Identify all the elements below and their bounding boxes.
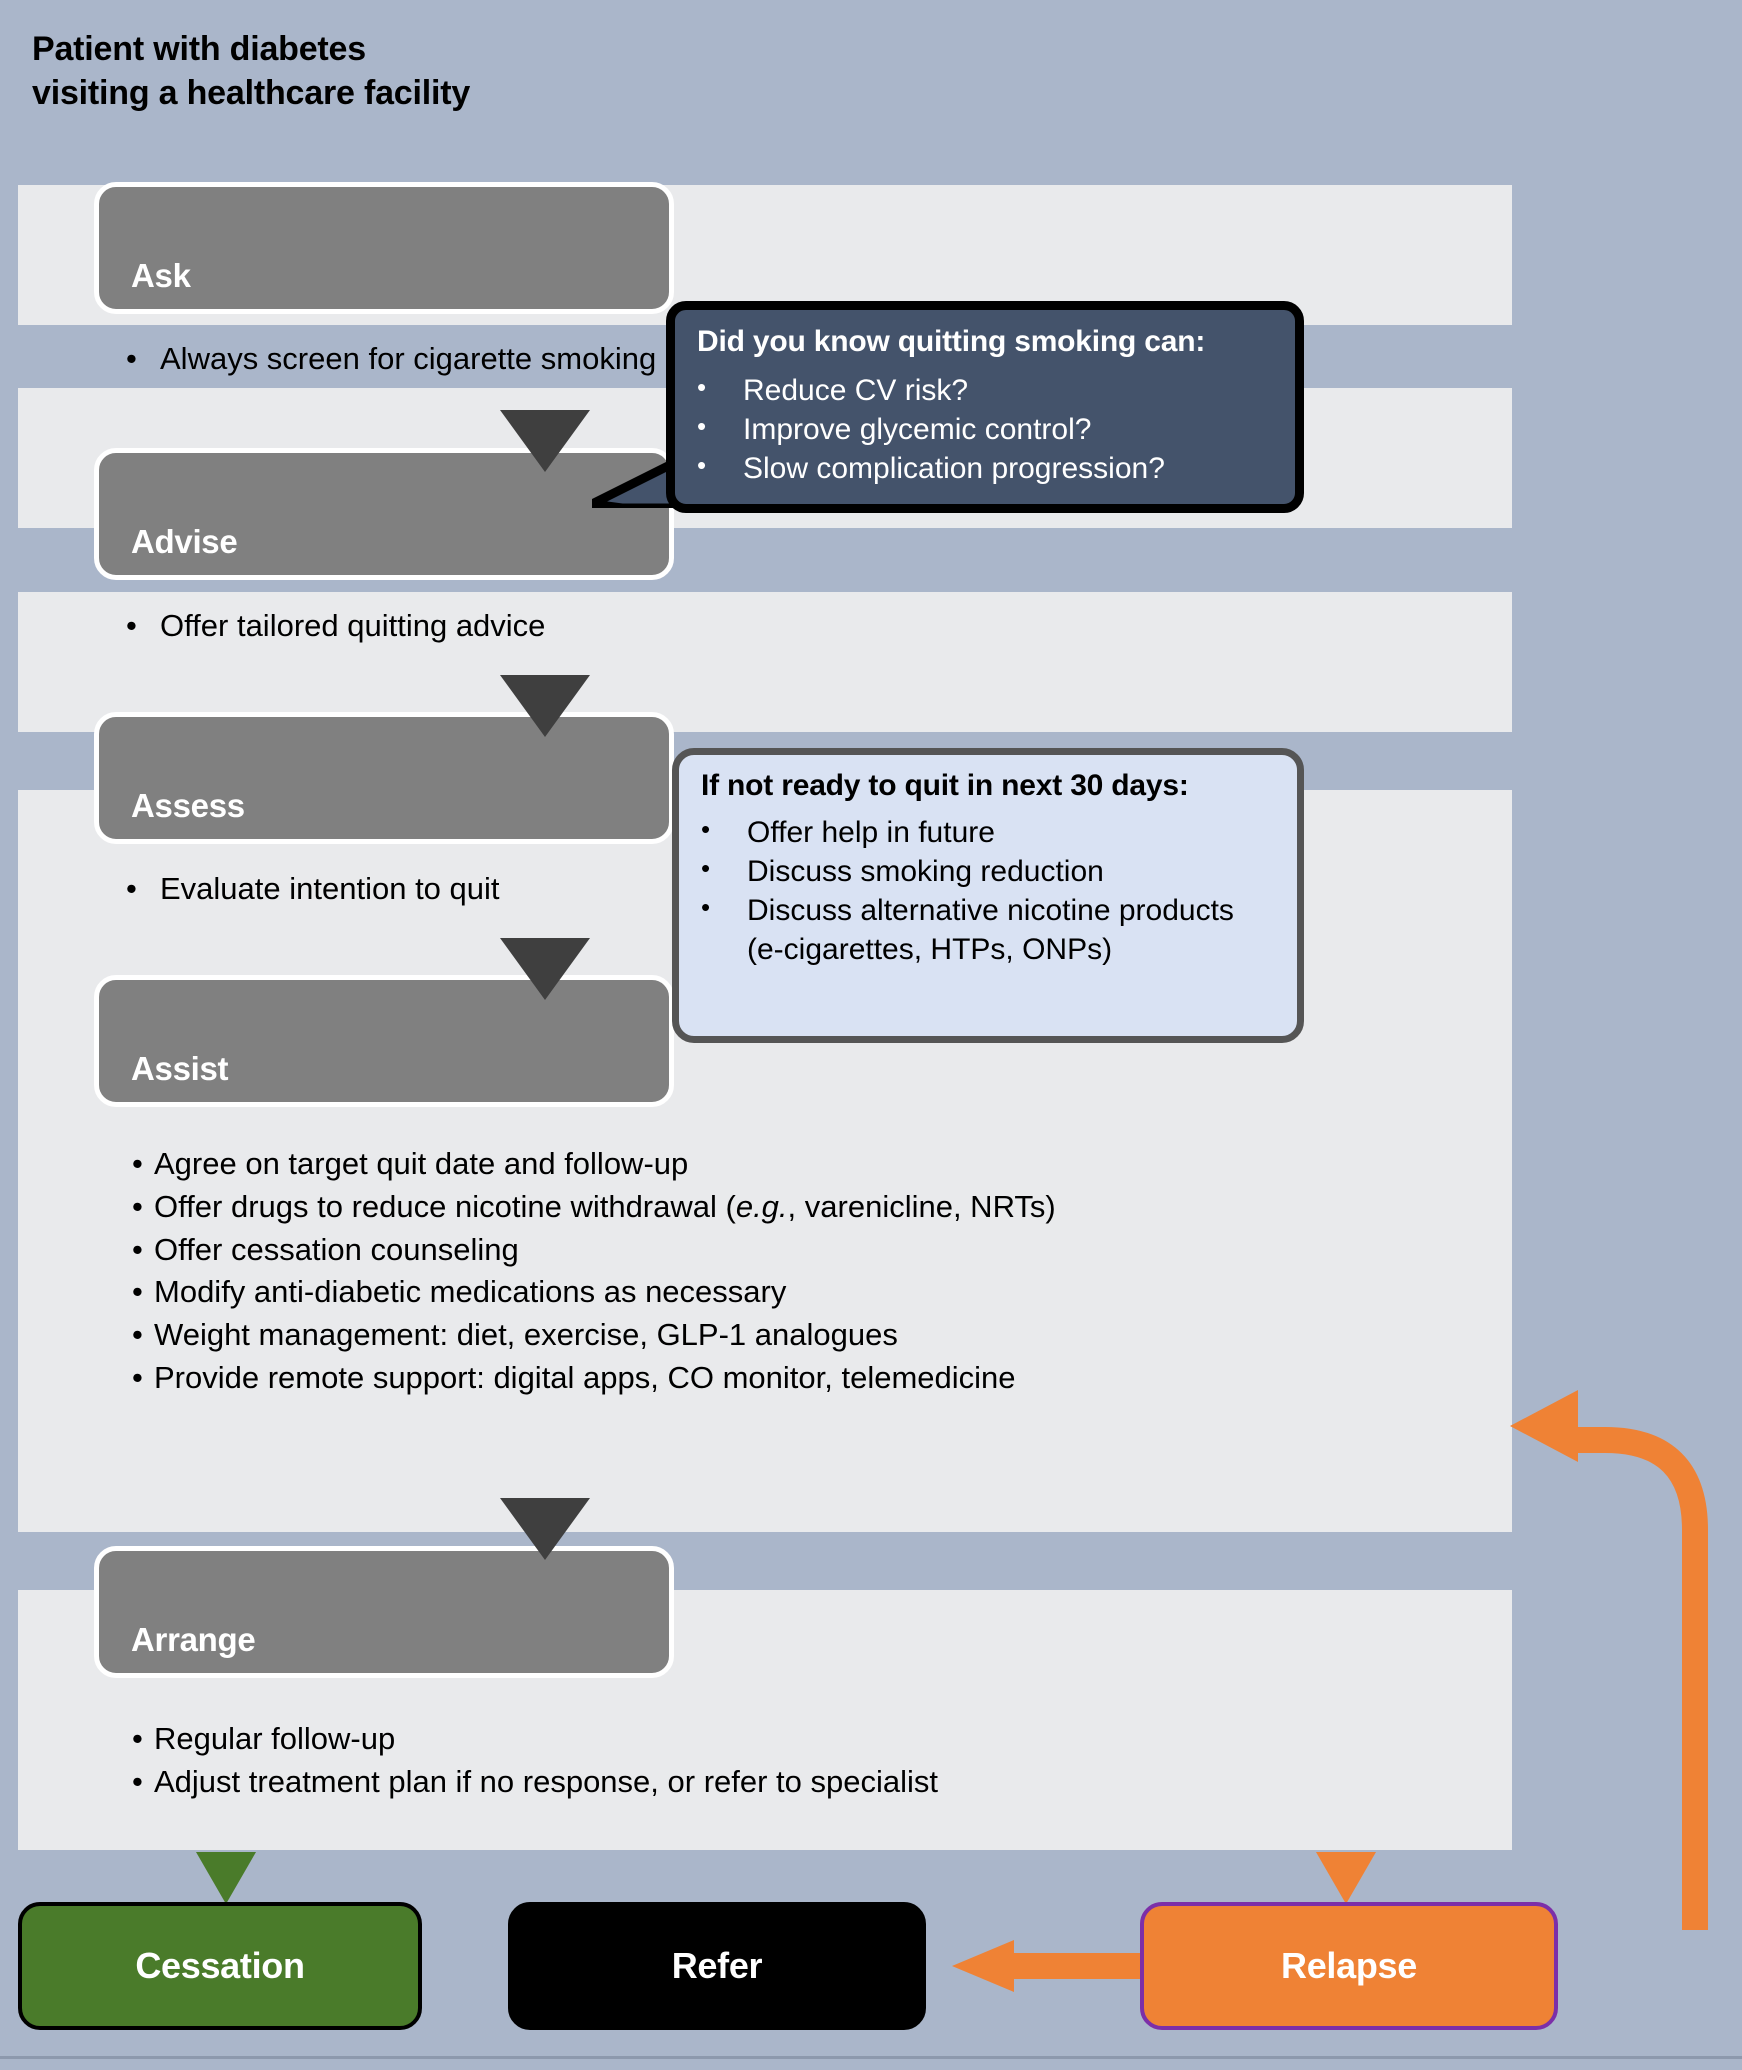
step-label-advise: Advise xyxy=(131,523,237,561)
connector-advise-to-assess xyxy=(500,675,590,737)
step-header-ask[interactable]: Ask xyxy=(94,182,674,314)
connector-ask-to-advise xyxy=(500,410,590,472)
bullet-glyph: • xyxy=(697,371,743,410)
list-item: •Reduce CV risk? xyxy=(697,371,1295,410)
list-item: •Improve glycemic control? xyxy=(697,410,1295,449)
list-item: •Modify anti-diabetic medications as nec… xyxy=(132,1271,1472,1314)
list-item: •Provide remote support: digital apps, C… xyxy=(132,1357,1472,1400)
connector-assess-to-assist xyxy=(500,938,590,1000)
bullet-glyph: • xyxy=(132,1357,154,1400)
bullet-text: Offer help in future xyxy=(747,813,995,852)
bullet-glyph: • xyxy=(126,605,160,648)
relapse-to-assist-loop-arrow xyxy=(1490,1230,1742,1930)
bullet-glyph: • xyxy=(132,1314,154,1357)
bullet-text: Improve glycemic control? xyxy=(743,410,1091,449)
bullet-text: Slow complication progression? xyxy=(743,449,1165,488)
bullet-text: Weight management: diet, exercise, GLP-1… xyxy=(154,1314,1472,1356)
bullet-glyph: • xyxy=(132,1143,154,1186)
step-label-arrange: Arrange xyxy=(131,1621,255,1659)
not-ready-to-quit-callout: If not ready to quit in next 30 days: •O… xyxy=(672,748,1304,1043)
bullet-glyph: • xyxy=(132,1761,154,1804)
list-item: •Slow complication progression? xyxy=(697,449,1295,488)
outcome-relapse[interactable]: Relapse xyxy=(1140,1902,1558,2030)
bullet-text: Offer cessation counseling xyxy=(154,1229,1472,1271)
bullet-glyph: • xyxy=(132,1718,154,1761)
outcome-label: Relapse xyxy=(1281,1945,1417,1987)
bullet-glyph: • xyxy=(132,1186,154,1229)
bullet-text: Adjust treatment plan if no response, or… xyxy=(154,1761,1472,1803)
arrow-arrange-to-cessation xyxy=(196,1852,256,1904)
step-label-assess: Assess xyxy=(131,787,245,825)
list-item: •Weight management: diet, exercise, GLP-… xyxy=(132,1314,1472,1357)
outcome-label: Refer xyxy=(672,1945,763,1987)
step-label-assist: Assist xyxy=(131,1050,228,1088)
flowchart-canvas: Patient with diabetes visiting a healthc… xyxy=(0,0,1742,2070)
bullet-text: Discuss smoking reduction xyxy=(747,852,1104,891)
bullet-glyph: • xyxy=(701,813,747,852)
bullet-text: Offer drugs to reduce nicotine withdrawa… xyxy=(154,1186,1472,1228)
bubble-title: Did you know quitting smoking can: xyxy=(675,310,1295,359)
list-item: •Agree on target quit date and follow-up xyxy=(132,1143,1472,1186)
bullet-glyph: • xyxy=(701,852,747,891)
step-bullets-advise: • Offer tailored quitting advice xyxy=(126,605,1026,648)
page-title: Patient with diabetes visiting a healthc… xyxy=(32,28,470,115)
relapse-to-refer-arrow xyxy=(952,1940,1148,1992)
bullet-glyph: • xyxy=(701,891,747,930)
bullet-glyph: • xyxy=(126,868,160,911)
did-you-know-bubble: Did you know quitting smoking can: •Redu… xyxy=(666,301,1304,513)
bullet-text: Agree on target quit date and follow-up xyxy=(154,1143,1472,1185)
bullet-subtext: (e-cigarettes, HTPs, ONPs) xyxy=(701,930,1297,969)
list-item: •Discuss smoking reduction xyxy=(701,852,1297,891)
bullet-glyph: • xyxy=(697,410,743,449)
list-item: •Regular follow-up xyxy=(132,1718,1472,1761)
list-item: •Adjust treatment plan if no response, o… xyxy=(132,1761,1472,1804)
list-item: • Offer drugs to reduce nicotine withdra… xyxy=(132,1186,1472,1229)
step-bullets-assist: •Agree on target quit date and follow-up… xyxy=(132,1143,1472,1400)
outcome-refer[interactable]: Refer xyxy=(508,1902,926,2030)
bullet-text: Modify anti-diabetic medications as nece… xyxy=(154,1271,1472,1313)
arrow-arrange-to-relapse xyxy=(1316,1852,1376,1904)
outcome-label: Cessation xyxy=(135,1945,304,1987)
connector-assist-to-arrange xyxy=(500,1498,590,1560)
bullet-glyph: • xyxy=(697,449,743,488)
bullet-text: Provide remote support: digital apps, CO… xyxy=(154,1357,1472,1399)
bullet-text: Offer tailored quitting advice xyxy=(160,605,1026,648)
bullet-glyph: • xyxy=(132,1271,154,1314)
callout-list: •Offer help in future •Discuss smoking r… xyxy=(679,803,1297,969)
callout-title: If not ready to quit in next 30 days: xyxy=(679,755,1297,803)
bottom-divider xyxy=(0,2056,1742,2059)
bullet-text: Reduce CV risk? xyxy=(743,371,968,410)
step-header-arrange[interactable]: Arrange xyxy=(94,1546,674,1678)
bullet-text: Discuss alternative nicotine products xyxy=(747,891,1234,930)
outcome-cessation[interactable]: Cessation xyxy=(18,1902,422,2030)
bullet-glyph: • xyxy=(126,338,160,381)
step-bullets-arrange: •Regular follow-up •Adjust treatment pla… xyxy=(132,1718,1472,1804)
bullet-glyph: • xyxy=(132,1229,154,1272)
bullet-text: Regular follow-up xyxy=(154,1718,1472,1760)
list-item: •Offer cessation counseling xyxy=(132,1229,1472,1272)
bubble-list: •Reduce CV risk? •Improve glycemic contr… xyxy=(675,359,1295,488)
step-label-ask: Ask xyxy=(131,257,191,295)
list-item: •Discuss alternative nicotine products xyxy=(701,891,1297,930)
list-item: •Offer help in future xyxy=(701,813,1297,852)
